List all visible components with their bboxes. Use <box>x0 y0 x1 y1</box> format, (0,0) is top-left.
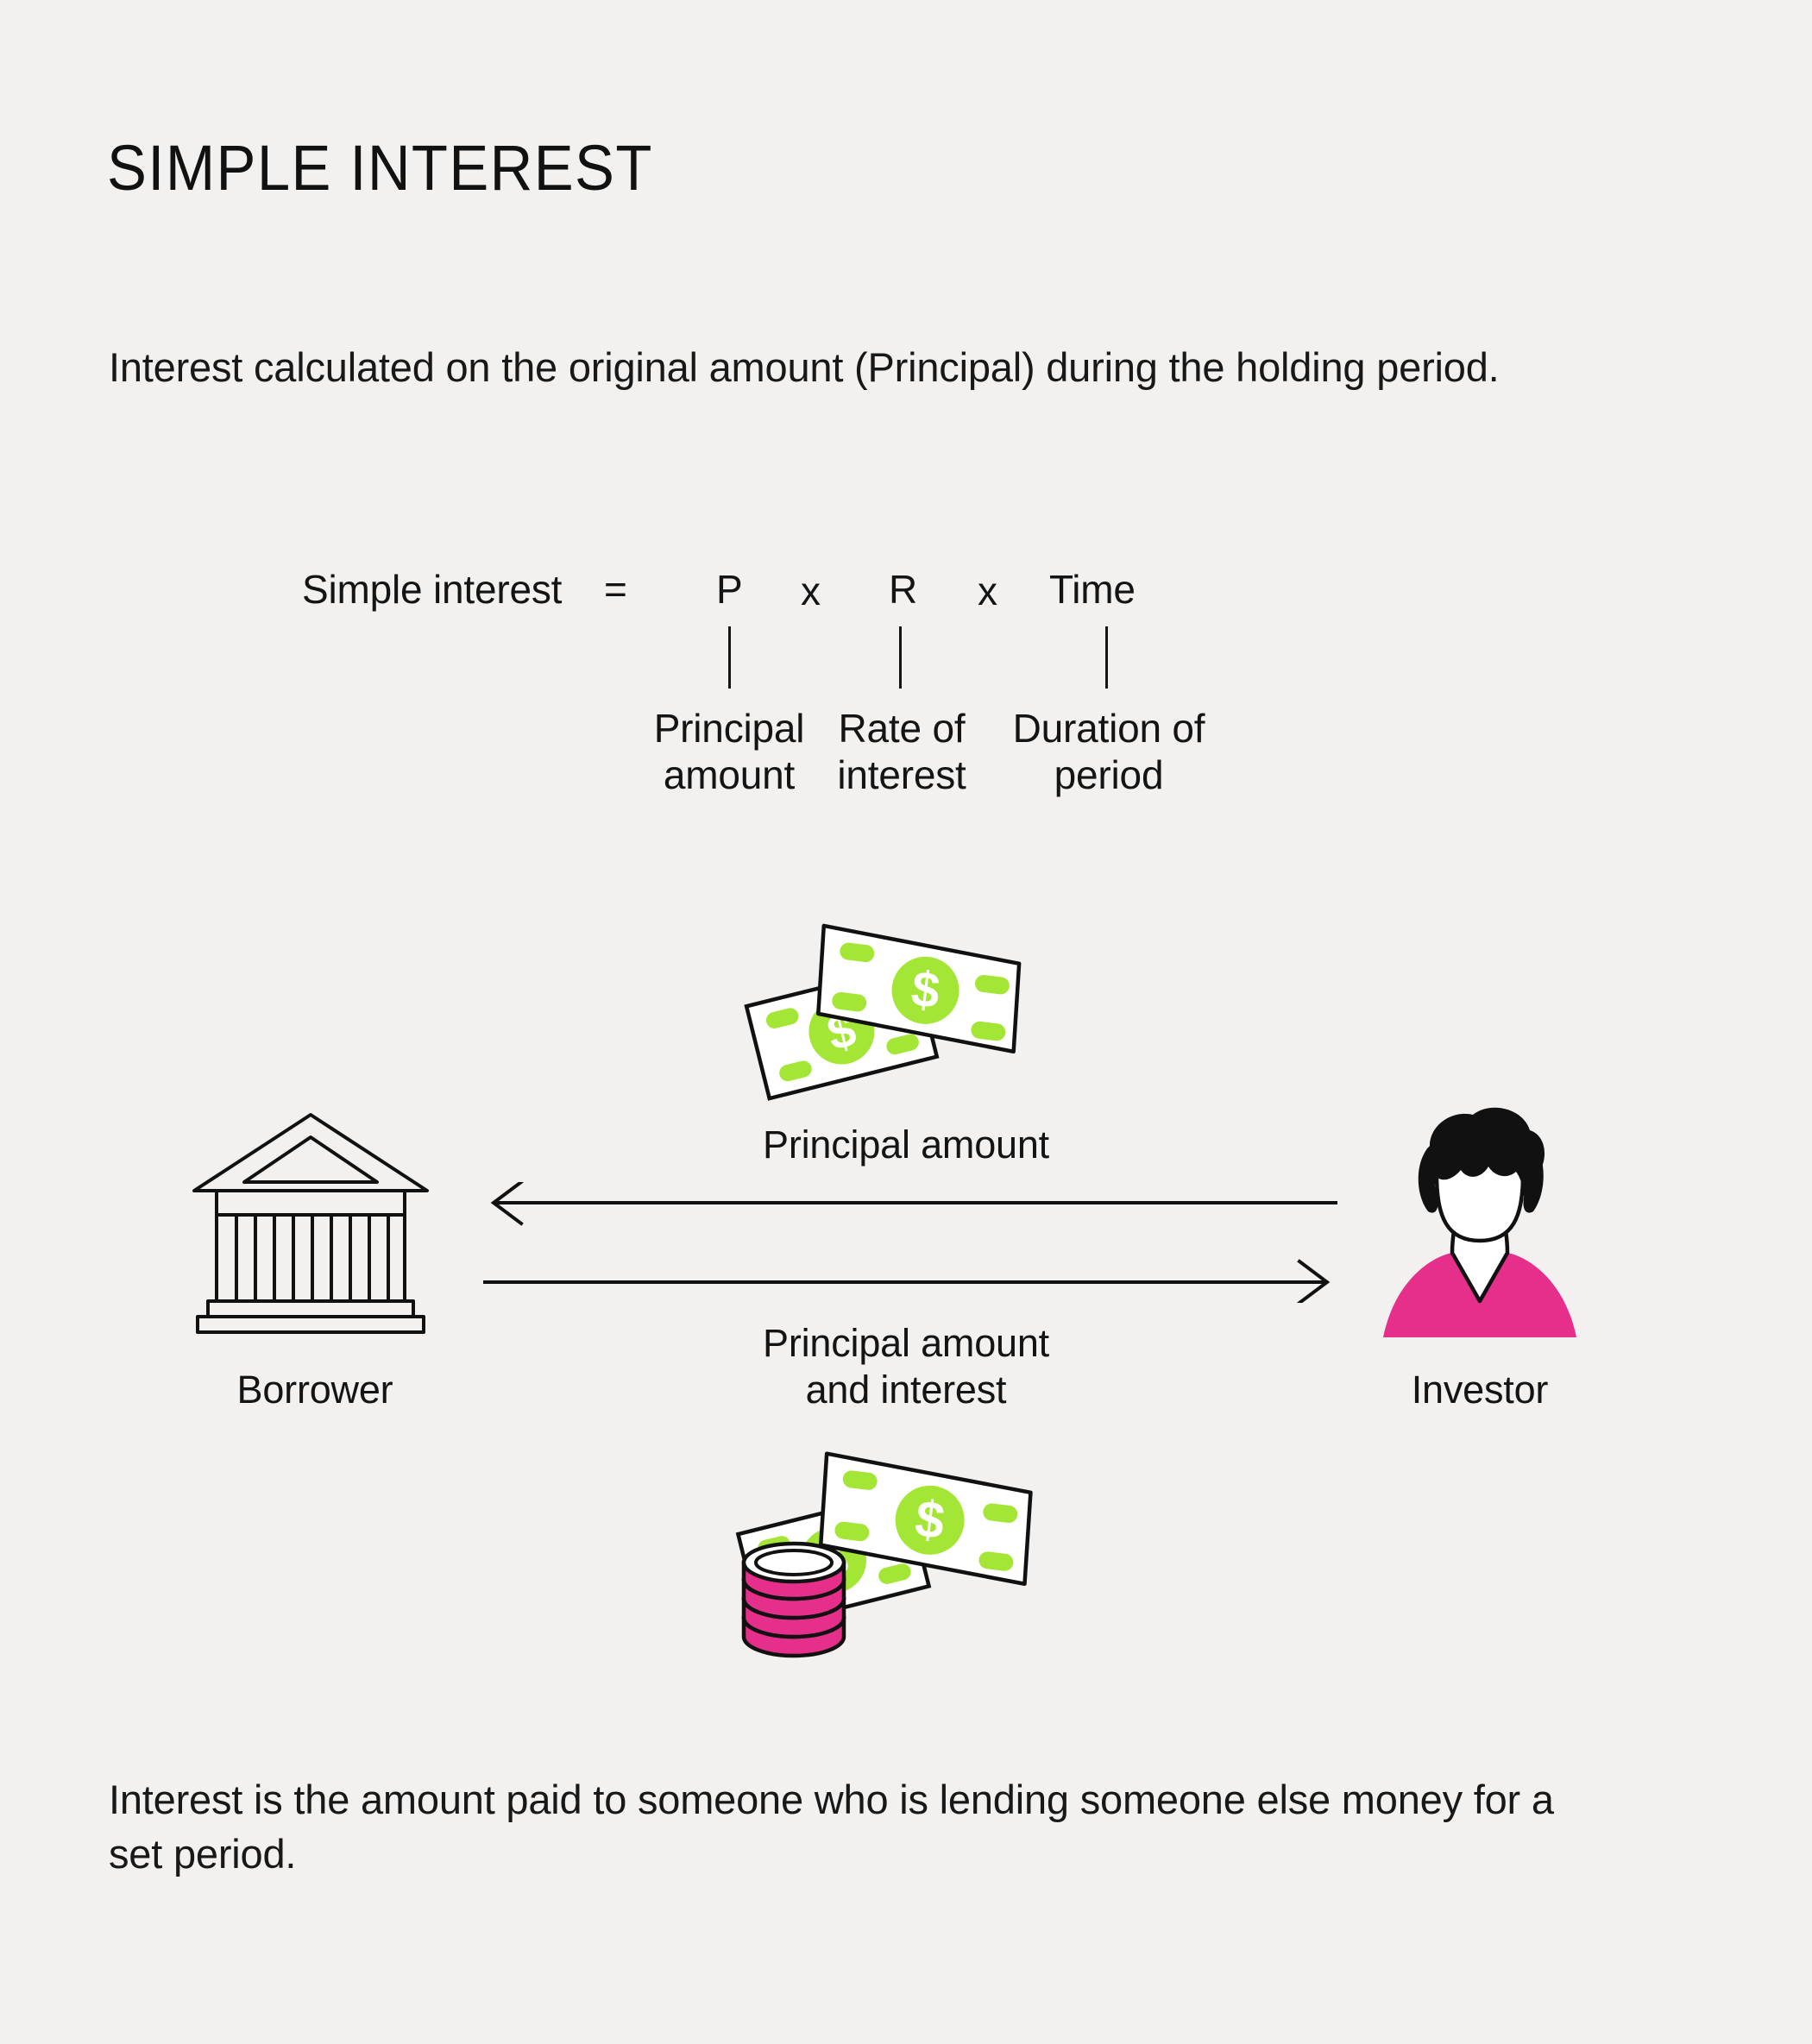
arrow-label-line1: Principal amount <box>604 1320 1208 1367</box>
formula-note-principal-line1: Principal <box>630 706 828 752</box>
formula-term-time: Time <box>1049 566 1136 613</box>
formula-note-duration: Duration of period <box>1001 706 1217 799</box>
formula-term-p: P <box>716 566 742 613</box>
arrow-label-principal-and-interest: Principal amount and interest <box>604 1320 1208 1413</box>
connector-line-p <box>728 626 731 689</box>
connector-line-r <box>899 626 902 689</box>
banknotes-icon: $ $ <box>729 919 1057 1109</box>
formula-note-duration-line2: period <box>1001 752 1217 799</box>
person-avatar-icon <box>1376 1096 1583 1337</box>
formula-multiply-2: x <box>978 568 997 614</box>
flow-arrows <box>483 1182 1337 1303</box>
coin-stack-icon <box>744 1544 844 1656</box>
formula-note-principal-line2: amount <box>630 752 828 799</box>
infographic-page: SIMPLE INTEREST Interest calculated on t… <box>0 0 1812 2044</box>
formula-equals-sign: = <box>604 566 627 613</box>
formula-note-rate-line2: interest <box>802 752 1001 799</box>
intro-paragraph: Interest calculated on the original amou… <box>109 341 1507 395</box>
footer-paragraph: Interest is the amount paid to someone w… <box>109 1773 1593 1881</box>
formula-lead-label: Simple interest <box>302 566 562 613</box>
borrower-label: Borrower <box>129 1368 500 1412</box>
formula-note-rate-line1: Rate of <box>802 706 1001 752</box>
banknotes-and-coins-icon: $ $ <box>708 1445 1070 1704</box>
formula-term-r: R <box>889 566 917 613</box>
formula-multiply-1: x <box>801 568 821 614</box>
connector-line-time <box>1105 626 1108 689</box>
formula-note-rate: Rate of interest <box>802 706 1001 799</box>
formula-note-duration-line1: Duration of <box>1001 706 1217 752</box>
arrow-label-line2: and interest <box>604 1367 1208 1413</box>
formula-block: Simple interest = P x R x Time Principal… <box>285 559 1493 818</box>
bank-building-icon <box>186 1096 436 1337</box>
arrow-label-principal: Principal amount <box>604 1122 1208 1168</box>
formula-note-principal: Principal amount <box>630 706 828 799</box>
investor-label: Investor <box>1286 1368 1674 1412</box>
page-title: SIMPLE INTEREST <box>107 131 653 204</box>
